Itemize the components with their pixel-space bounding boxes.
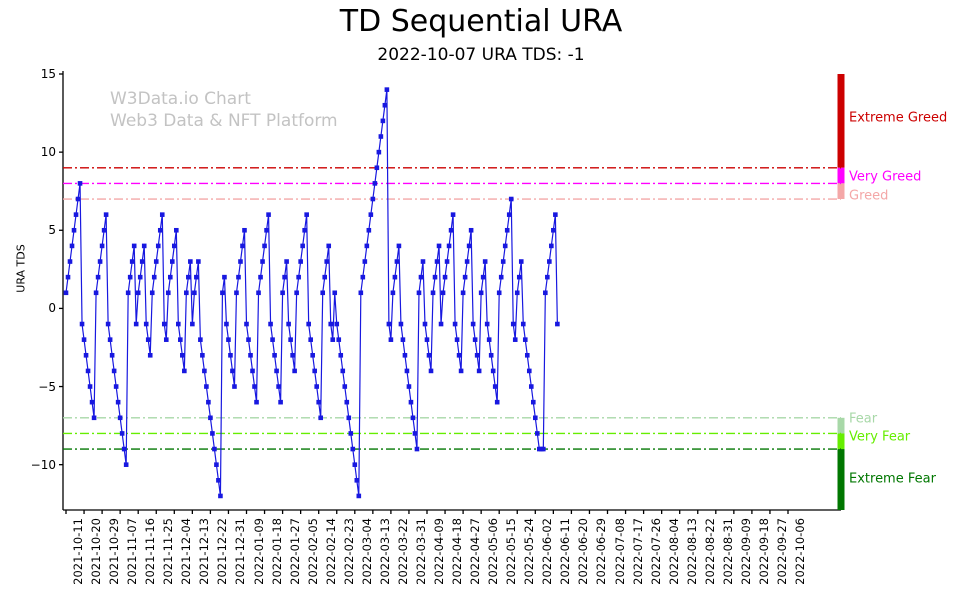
data-point bbox=[108, 337, 113, 342]
data-point bbox=[66, 275, 71, 280]
data-point bbox=[168, 275, 173, 280]
data-point bbox=[397, 244, 402, 249]
data-point bbox=[371, 197, 376, 202]
data-point bbox=[196, 259, 201, 264]
data-point bbox=[385, 87, 390, 92]
zone-bar bbox=[838, 168, 845, 184]
data-point bbox=[232, 384, 237, 389]
data-point bbox=[170, 259, 175, 264]
data-point bbox=[525, 353, 530, 358]
data-point bbox=[270, 337, 275, 342]
data-point bbox=[198, 337, 203, 342]
data-point bbox=[369, 212, 374, 217]
data-point bbox=[533, 416, 538, 421]
data-point bbox=[419, 275, 424, 280]
data-point bbox=[350, 447, 355, 452]
data-point bbox=[503, 244, 508, 249]
data-point bbox=[92, 416, 97, 421]
data-point bbox=[483, 259, 488, 264]
data-point bbox=[274, 369, 279, 374]
data-point bbox=[555, 322, 560, 327]
data-point bbox=[473, 337, 478, 342]
data-point bbox=[186, 275, 191, 280]
data-point bbox=[228, 353, 233, 358]
data-point bbox=[549, 244, 554, 249]
data-point bbox=[513, 337, 518, 342]
data-point bbox=[164, 337, 169, 342]
data-point bbox=[172, 244, 177, 249]
data-point bbox=[389, 337, 394, 342]
data-point bbox=[192, 290, 197, 295]
data-point bbox=[94, 290, 99, 295]
data-point bbox=[421, 259, 426, 264]
data-point bbox=[126, 290, 131, 295]
data-point bbox=[455, 337, 460, 342]
data-point bbox=[344, 400, 349, 405]
data-point bbox=[547, 259, 552, 264]
data-point bbox=[330, 337, 335, 342]
data-point bbox=[158, 228, 163, 233]
data-point bbox=[114, 384, 119, 389]
data-point bbox=[320, 290, 325, 295]
data-point bbox=[322, 275, 327, 280]
data-point bbox=[541, 447, 546, 452]
zone-bar bbox=[838, 449, 845, 510]
data-point bbox=[162, 322, 167, 327]
data-point bbox=[248, 353, 253, 358]
data-point bbox=[118, 416, 123, 421]
data-point bbox=[110, 353, 115, 358]
data-point bbox=[84, 353, 89, 358]
data-point bbox=[292, 369, 297, 374]
data-point bbox=[316, 400, 321, 405]
data-point bbox=[334, 322, 339, 327]
data-point bbox=[224, 322, 229, 327]
data-point bbox=[166, 290, 171, 295]
data-point bbox=[405, 369, 410, 374]
data-point bbox=[361, 275, 366, 280]
data-point bbox=[449, 228, 454, 233]
data-point bbox=[511, 322, 516, 327]
data-point bbox=[487, 337, 492, 342]
data-point bbox=[252, 384, 257, 389]
data-point bbox=[156, 244, 161, 249]
data-point bbox=[395, 259, 400, 264]
data-point bbox=[180, 353, 185, 358]
data-point bbox=[138, 275, 143, 280]
data-point bbox=[523, 337, 528, 342]
data-point bbox=[240, 244, 245, 249]
data-point bbox=[280, 290, 285, 295]
data-point bbox=[507, 212, 512, 217]
data-point bbox=[82, 337, 87, 342]
data-point bbox=[357, 494, 362, 499]
data-point bbox=[435, 259, 440, 264]
data-point bbox=[355, 478, 360, 483]
data-point bbox=[326, 244, 331, 249]
data-point bbox=[373, 181, 378, 186]
data-point bbox=[505, 228, 510, 233]
data-point bbox=[535, 431, 540, 436]
data-point bbox=[407, 384, 412, 389]
data-point bbox=[471, 322, 476, 327]
data-point bbox=[152, 275, 157, 280]
data-point bbox=[308, 337, 313, 342]
data-point bbox=[543, 290, 548, 295]
data-point bbox=[74, 212, 79, 217]
data-point bbox=[340, 369, 345, 374]
data-point bbox=[258, 275, 263, 280]
data-point bbox=[310, 353, 315, 358]
data-point bbox=[190, 322, 195, 327]
data-point bbox=[499, 275, 504, 280]
data-point bbox=[234, 290, 239, 295]
zone-bar bbox=[838, 418, 845, 434]
data-point bbox=[445, 259, 450, 264]
data-point bbox=[276, 384, 281, 389]
data-point bbox=[226, 337, 231, 342]
data-point bbox=[284, 259, 289, 264]
data-point bbox=[489, 353, 494, 358]
data-point bbox=[88, 384, 93, 389]
data-point bbox=[298, 259, 303, 264]
data-point bbox=[146, 337, 151, 342]
data-point bbox=[154, 259, 159, 264]
data-point bbox=[288, 337, 293, 342]
data-point bbox=[481, 275, 486, 280]
data-point bbox=[363, 259, 368, 264]
data-point bbox=[491, 369, 496, 374]
data-point bbox=[451, 212, 456, 217]
data-point bbox=[391, 290, 396, 295]
data-point bbox=[377, 150, 382, 155]
data-point bbox=[250, 369, 255, 374]
data-point bbox=[98, 259, 103, 264]
data-point bbox=[348, 431, 353, 436]
data-point bbox=[463, 275, 468, 280]
data-point bbox=[411, 416, 416, 421]
data-point bbox=[353, 462, 358, 467]
data-point bbox=[413, 431, 418, 436]
data-point bbox=[78, 181, 83, 186]
data-point bbox=[409, 400, 414, 405]
data-point bbox=[202, 369, 207, 374]
data-point bbox=[399, 322, 404, 327]
data-point bbox=[312, 369, 317, 374]
data-point bbox=[182, 369, 187, 374]
data-point bbox=[417, 290, 422, 295]
data-point bbox=[485, 322, 490, 327]
data-point bbox=[140, 259, 145, 264]
data-point bbox=[244, 322, 249, 327]
data-point bbox=[70, 244, 75, 249]
data-point bbox=[545, 275, 550, 280]
data-point bbox=[264, 228, 269, 233]
data-point bbox=[104, 212, 109, 217]
data-point bbox=[188, 259, 193, 264]
data-point bbox=[72, 228, 77, 233]
data-point bbox=[136, 290, 141, 295]
data-point bbox=[112, 369, 117, 374]
data-point bbox=[393, 275, 398, 280]
data-point bbox=[342, 384, 347, 389]
data-point bbox=[427, 353, 432, 358]
data-point bbox=[467, 244, 472, 249]
data-point bbox=[90, 400, 95, 405]
data-point bbox=[194, 275, 199, 280]
data-point bbox=[230, 369, 235, 374]
data-point bbox=[475, 353, 480, 358]
data-point bbox=[200, 353, 205, 358]
data-point bbox=[302, 228, 307, 233]
data-point bbox=[497, 290, 502, 295]
data-point bbox=[328, 322, 333, 327]
data-point bbox=[365, 244, 370, 249]
data-point bbox=[160, 212, 165, 217]
data-point bbox=[336, 337, 341, 342]
data-point bbox=[246, 337, 251, 342]
data-markers bbox=[64, 87, 560, 498]
data-point bbox=[477, 369, 482, 374]
data-point bbox=[174, 228, 179, 233]
data-point bbox=[379, 134, 384, 139]
data-point bbox=[403, 353, 408, 358]
data-point bbox=[222, 275, 227, 280]
zone-bar bbox=[838, 74, 845, 168]
data-point bbox=[461, 290, 466, 295]
data-point bbox=[130, 259, 135, 264]
data-point bbox=[212, 447, 217, 452]
data-point bbox=[210, 431, 215, 436]
data-point bbox=[509, 197, 514, 202]
data-point bbox=[120, 431, 125, 436]
data-point bbox=[242, 228, 247, 233]
data-point bbox=[551, 228, 556, 233]
data-point bbox=[553, 212, 558, 217]
data-point bbox=[304, 212, 309, 217]
data-point bbox=[296, 275, 301, 280]
data-point bbox=[124, 462, 129, 467]
data-point bbox=[306, 322, 311, 327]
data-point bbox=[318, 416, 323, 421]
data-point bbox=[359, 290, 364, 295]
data-point bbox=[178, 337, 183, 342]
data-point bbox=[338, 353, 343, 358]
data-point bbox=[206, 400, 211, 405]
data-point bbox=[238, 259, 243, 264]
zone-bar bbox=[838, 433, 845, 449]
data-point bbox=[216, 478, 221, 483]
data-point bbox=[521, 322, 526, 327]
data-point bbox=[204, 384, 209, 389]
data-point bbox=[447, 244, 452, 249]
chart-container: TD Sequential URA 2022-10-07 URA TDS: -1… bbox=[0, 0, 962, 614]
data-point bbox=[122, 447, 127, 452]
data-point bbox=[383, 103, 388, 108]
data-point bbox=[431, 290, 436, 295]
data-point bbox=[324, 259, 329, 264]
data-point bbox=[479, 290, 484, 295]
data-point bbox=[519, 259, 524, 264]
data-point bbox=[134, 322, 139, 327]
data-point bbox=[465, 259, 470, 264]
data-point bbox=[236, 275, 241, 280]
data-point bbox=[148, 353, 153, 358]
data-point bbox=[64, 290, 69, 295]
data-point bbox=[80, 322, 85, 327]
data-point bbox=[314, 384, 319, 389]
data-point bbox=[184, 290, 189, 295]
data-point bbox=[429, 369, 434, 374]
data-point bbox=[150, 290, 155, 295]
data-point bbox=[441, 290, 446, 295]
data-point bbox=[290, 353, 295, 358]
data-point bbox=[423, 322, 428, 327]
zone-bar bbox=[838, 183, 845, 199]
data-point bbox=[439, 322, 444, 327]
data-point bbox=[501, 259, 506, 264]
data-point bbox=[531, 400, 536, 405]
data-point bbox=[208, 416, 213, 421]
data-point bbox=[415, 447, 420, 452]
data-point bbox=[86, 369, 91, 374]
data-point bbox=[517, 275, 522, 280]
data-point bbox=[272, 353, 277, 358]
data-point bbox=[260, 259, 265, 264]
data-point bbox=[218, 494, 223, 499]
data-point bbox=[268, 322, 273, 327]
data-point bbox=[106, 322, 111, 327]
data-point bbox=[493, 384, 498, 389]
data-point bbox=[433, 275, 438, 280]
data-point bbox=[529, 384, 534, 389]
data-point bbox=[286, 322, 291, 327]
data-point bbox=[527, 369, 532, 374]
data-point bbox=[278, 400, 283, 405]
data-point bbox=[128, 275, 133, 280]
data-point bbox=[262, 244, 267, 249]
data-point bbox=[100, 244, 105, 249]
data-point bbox=[453, 322, 458, 327]
data-point bbox=[96, 275, 101, 280]
data-point bbox=[375, 165, 380, 170]
data-point bbox=[443, 275, 448, 280]
data-point bbox=[457, 353, 462, 358]
data-point bbox=[346, 416, 351, 421]
data-point bbox=[294, 290, 299, 295]
data-point bbox=[266, 212, 271, 217]
data-point bbox=[256, 290, 261, 295]
data-point bbox=[68, 259, 73, 264]
data-point bbox=[515, 290, 520, 295]
data-point bbox=[332, 290, 337, 295]
data-point bbox=[495, 400, 500, 405]
data-point bbox=[367, 228, 372, 233]
data-point bbox=[76, 197, 81, 202]
data-point bbox=[116, 400, 121, 405]
data-point bbox=[381, 119, 386, 124]
data-point bbox=[425, 337, 430, 342]
data-point bbox=[142, 244, 147, 249]
data-point bbox=[144, 322, 149, 327]
data-point bbox=[459, 369, 464, 374]
data-point bbox=[254, 400, 259, 405]
data-point bbox=[437, 244, 442, 249]
data-point bbox=[220, 290, 225, 295]
data-point bbox=[387, 322, 392, 327]
plot-area bbox=[0, 0, 962, 614]
data-point bbox=[300, 244, 305, 249]
data-point bbox=[401, 337, 406, 342]
data-point bbox=[102, 228, 107, 233]
data-point bbox=[176, 322, 181, 327]
data-point bbox=[282, 275, 287, 280]
data-point bbox=[132, 244, 137, 249]
data-point bbox=[469, 228, 474, 233]
data-point bbox=[214, 462, 219, 467]
